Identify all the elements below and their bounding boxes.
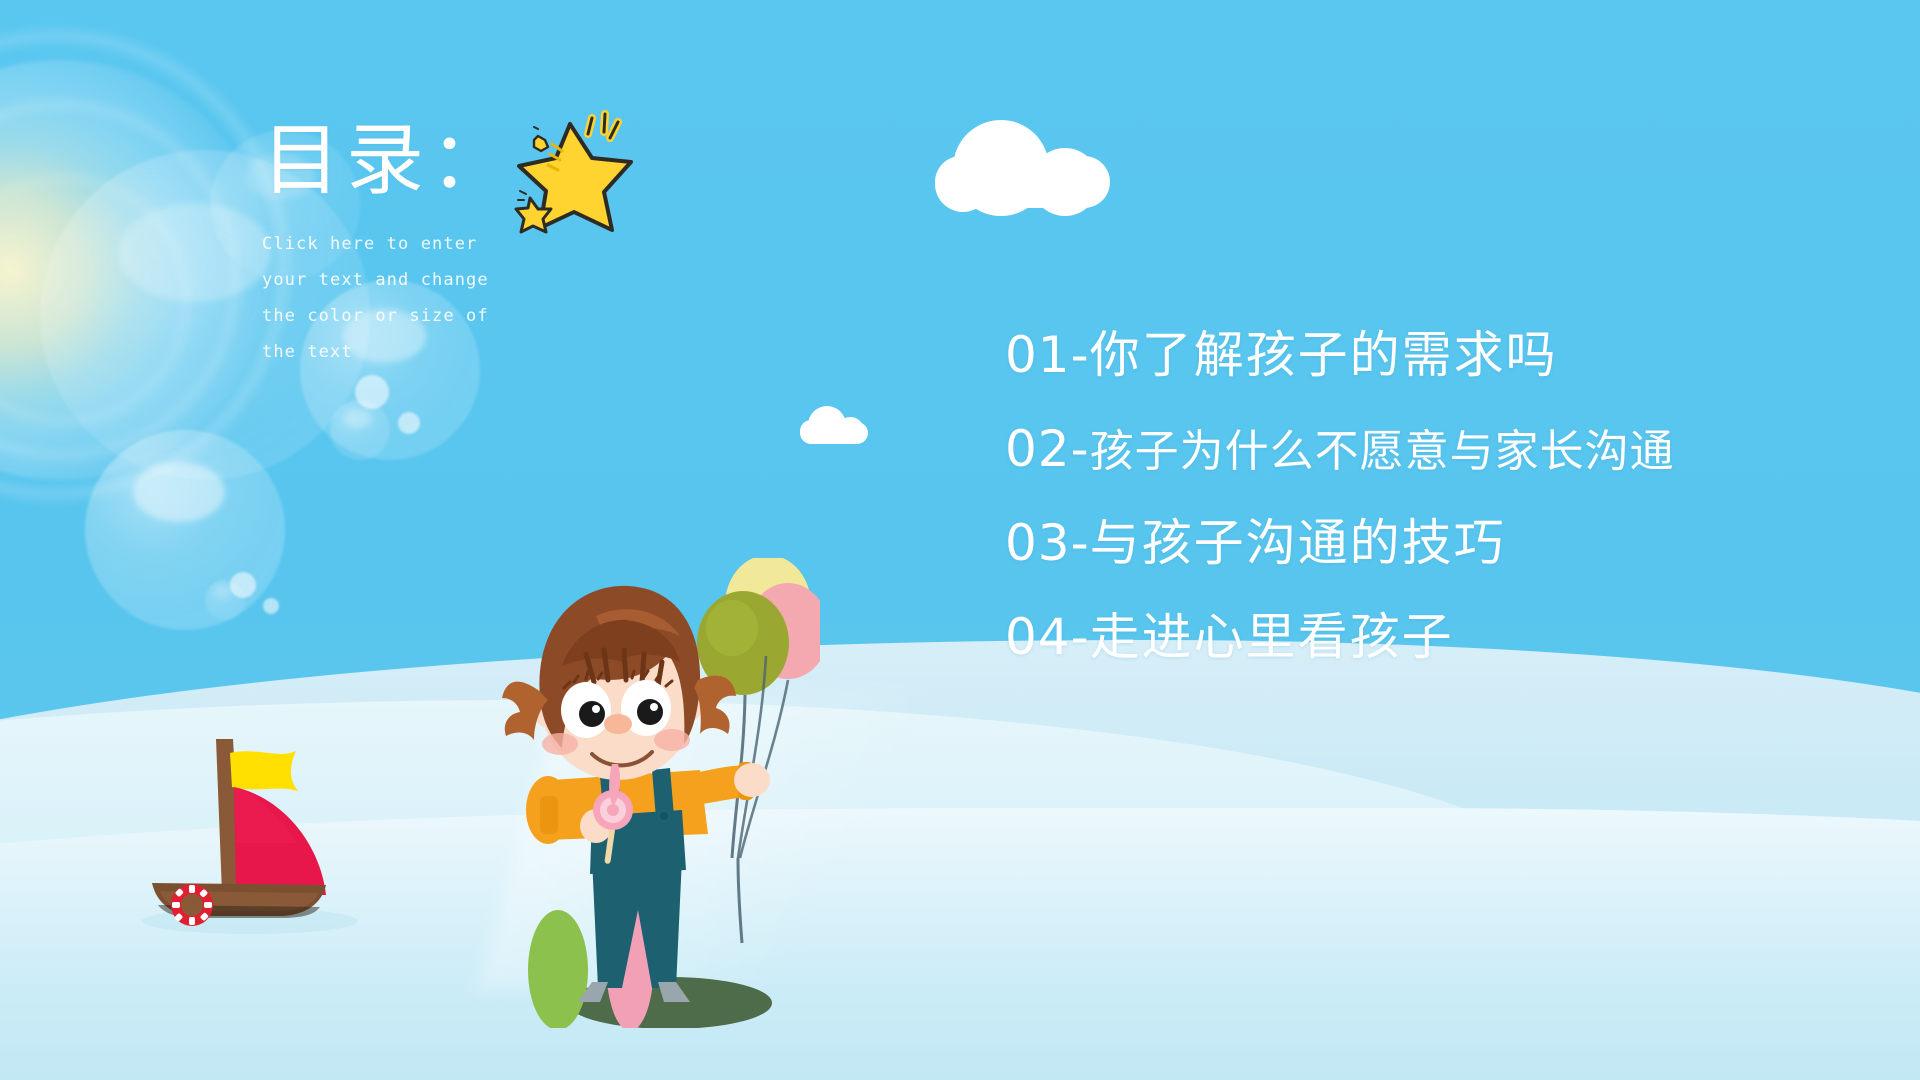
toc-label: 你了解孩子的需求吗	[1090, 330, 1558, 380]
slide-root: 目录： Click here to enter your text and ch…	[0, 0, 1920, 1080]
toc-separator: -	[1071, 330, 1090, 380]
page-title: 目录：	[262, 122, 682, 200]
toc-item-01[interactable]: 01 - 你了解孩子的需求吗	[1005, 330, 1835, 380]
toc-label: 孩子为什么不愿意与家长沟通	[1090, 430, 1675, 474]
toc-separator: -	[1071, 612, 1090, 662]
toc-separator: -	[1071, 424, 1090, 474]
cloud-small-icon	[800, 406, 868, 444]
toc-separator: -	[1071, 518, 1090, 568]
toc-item-03[interactable]: 03 - 与孩子沟通的技巧	[1005, 518, 1835, 568]
sailboat-icon	[130, 725, 380, 955]
header-block: 目录： Click here to enter your text and ch…	[262, 122, 682, 370]
table-of-contents: 01 - 你了解孩子的需求吗 02 - 孩子为什么不愿意与家长沟通 03 - 与…	[1005, 330, 1835, 662]
toc-item-04[interactable]: 04 - 走进心里看孩子	[1005, 612, 1835, 662]
toc-number: 02	[1005, 424, 1071, 474]
page-subtitle: Click here to enter your text and change…	[262, 226, 512, 370]
toc-label: 走进心里看孩子	[1090, 612, 1454, 662]
girl-with-balloons-icon	[500, 558, 820, 1028]
toc-number: 04	[1005, 612, 1071, 662]
toc-item-02[interactable]: 02 - 孩子为什么不愿意与家长沟通	[1005, 424, 1835, 474]
toc-number: 03	[1005, 518, 1071, 568]
cloud-large-icon	[935, 118, 1110, 208]
toc-number: 01	[1005, 330, 1071, 380]
toc-label: 与孩子沟通的技巧	[1090, 518, 1506, 568]
